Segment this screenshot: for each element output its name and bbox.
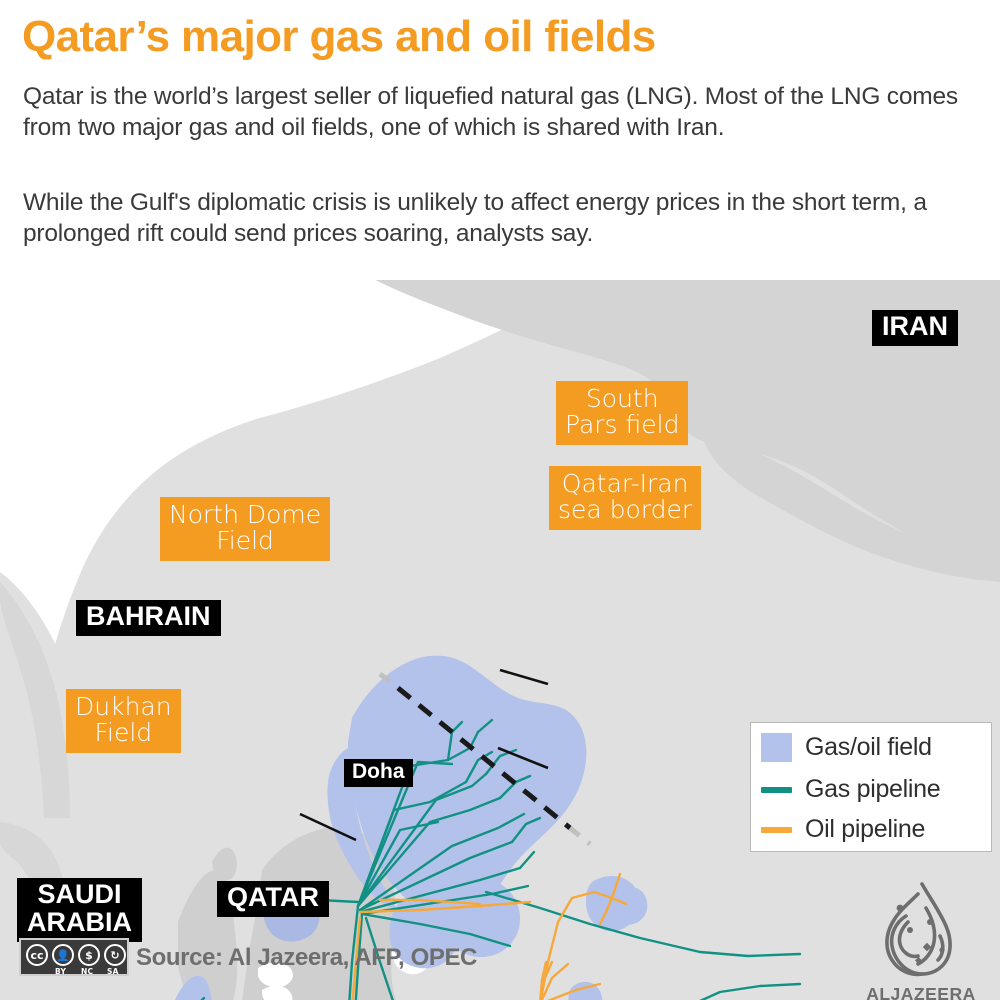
cc-by-icon: 👤 bbox=[52, 944, 74, 966]
field-offshore-2 bbox=[610, 887, 647, 925]
al-jazeera-wordmark: ALJAZEERA bbox=[856, 984, 986, 1000]
oil-pipeline-line-icon bbox=[761, 827, 792, 833]
cc-nc-icon: $ bbox=[78, 944, 100, 966]
legend-item-gas-pipeline[interactable]: Gas pipeline bbox=[761, 775, 940, 804]
label-dukhan-field[interactable]: Dukhan Field bbox=[66, 689, 181, 753]
gas-pipeline-line-icon bbox=[761, 787, 792, 793]
label-qatar-iran-sea-border[interactable]: Qatar-Iran sea border bbox=[549, 466, 701, 530]
footer: cc 👤 $ ↻ BY NC SA Source: Al Jazeera, AF… bbox=[0, 930, 1000, 1000]
legend-label-gas: Gas pipeline bbox=[805, 775, 940, 804]
gas-oil-field-swatch-icon bbox=[761, 733, 792, 762]
legend-item-oil-pipeline[interactable]: Oil pipeline bbox=[761, 815, 925, 844]
label-south-pars-field[interactable]: South Pars field bbox=[556, 381, 688, 445]
label-country-iran[interactable]: IRAN bbox=[872, 310, 958, 346]
cc-icon: cc bbox=[26, 944, 48, 966]
header: Qatar’s major gas and oil fields Qatar i… bbox=[0, 0, 1000, 280]
cc-by-label: BY bbox=[55, 967, 66, 976]
intro-paragraph-1: Qatar is the world’s largest seller of l… bbox=[23, 82, 973, 143]
al-jazeera-logo-icon bbox=[856, 878, 986, 998]
source-credit: Source: Al Jazeera, AFP, OPEC bbox=[136, 944, 477, 972]
map-legend: Gas/oil field Gas pipeline Oil pipeline bbox=[750, 722, 992, 852]
legend-item-field[interactable]: Gas/oil field bbox=[761, 733, 932, 762]
infographic-page: Qatar’s major gas and oil fields Qatar i… bbox=[0, 0, 1000, 1000]
cc-sa-icon: ↻ bbox=[104, 944, 126, 966]
label-north-dome-field[interactable]: North Dome Field bbox=[160, 497, 330, 561]
creative-commons-badge[interactable]: cc 👤 $ ↻ BY NC SA bbox=[19, 938, 129, 976]
page-title: Qatar’s major gas and oil fields bbox=[22, 14, 656, 60]
legend-label-oil: Oil pipeline bbox=[805, 815, 925, 844]
label-country-qatar[interactable]: QATAR bbox=[217, 881, 329, 917]
legend-label-field: Gas/oil field bbox=[805, 733, 932, 762]
label-city-doha[interactable]: Doha bbox=[344, 759, 413, 787]
label-country-bahrain[interactable]: BAHRAIN bbox=[76, 600, 221, 636]
cc-sa-label: SA bbox=[107, 967, 119, 976]
intro-paragraph-2: While the Gulf's diplomatic crisis is un… bbox=[23, 188, 978, 249]
cc-nc-label: NC bbox=[81, 967, 93, 976]
